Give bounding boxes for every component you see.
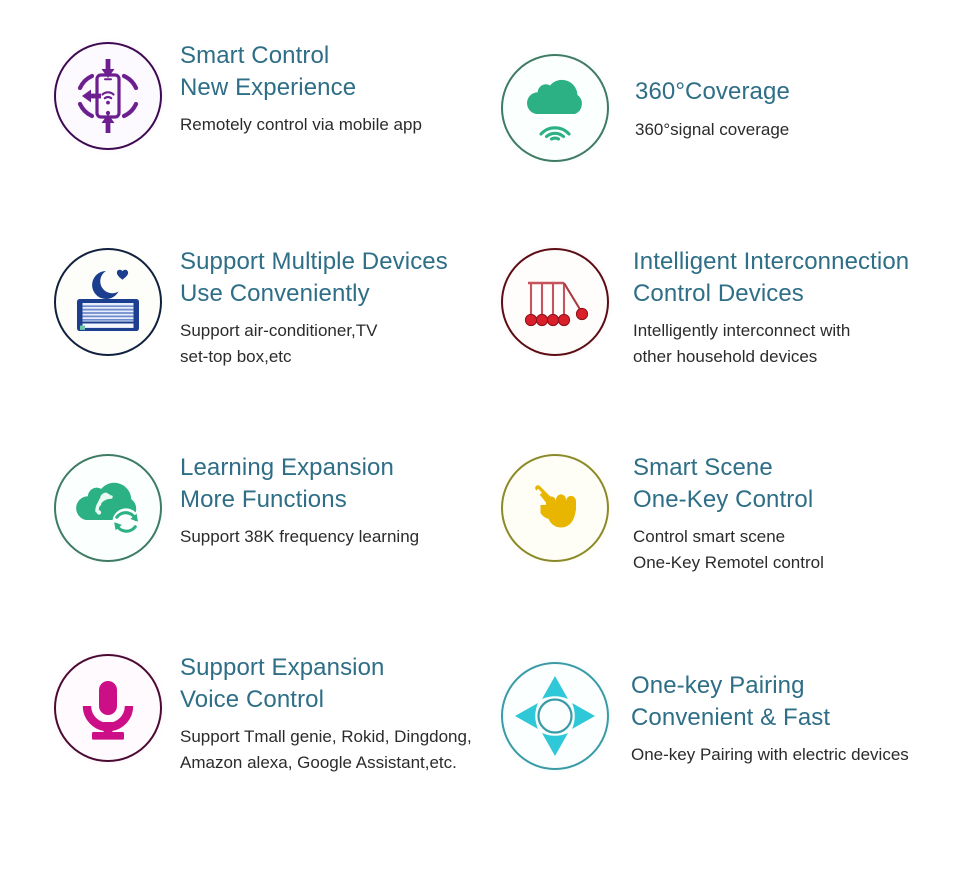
feature-description: Support air-conditioner,TV set-top box,e…	[180, 318, 448, 370]
feature-desc-line: Control smart scene	[633, 524, 824, 550]
feature-title: Learning Expansion More Functions	[180, 452, 419, 515]
feature-icon-wrap	[495, 656, 615, 776]
feature-title-line: 360°Coverage	[635, 76, 790, 108]
pointing-hand-icon	[501, 454, 609, 562]
feature-desc-line: One-key Pairing with electric devices	[631, 742, 909, 768]
feature-text: Support Expansion Voice Control Support …	[168, 648, 472, 776]
feature-title: Support Multiple Devices Use Convenientl…	[180, 246, 448, 309]
feature-description: One-key Pairing with electric devices	[631, 742, 909, 768]
feature-text: Support Multiple Devices Use Convenientl…	[168, 242, 448, 370]
feature-title-line: Control Devices	[633, 278, 909, 310]
feature-text: Smart Scene One-Key Control Control smar…	[615, 448, 824, 576]
feature-title-line: Support Multiple Devices	[180, 246, 448, 278]
feature-interconnection: Intelligent Interconnection Control Devi…	[495, 242, 909, 370]
feature-text: Intelligent Interconnection Control Devi…	[615, 242, 909, 370]
feature-icon-wrap	[48, 242, 168, 362]
feature-title-line: Voice Control	[180, 684, 472, 716]
feature-desc-line: Amazon alexa, Google Assistant,etc.	[180, 750, 472, 776]
cloud-signal-icon	[501, 54, 609, 162]
four-direction-arrows-icon	[501, 662, 609, 770]
feature-title-line: Convenient & Fast	[631, 702, 909, 734]
feature-title-line: More Functions	[180, 484, 419, 516]
feature-title: Smart Scene One-Key Control	[633, 452, 824, 515]
feature-icon-wrap	[495, 48, 615, 168]
feature-title: Intelligent Interconnection Control Devi…	[633, 246, 909, 309]
feature-description: 360°signal coverage	[635, 117, 790, 143]
feature-title-line: Intelligent Interconnection	[633, 246, 909, 278]
feature-title-line: Smart Scene	[633, 452, 824, 484]
feature-one-key-pairing: One-key Pairing Convenient & Fast One-ke…	[495, 656, 909, 776]
feature-desc-line: other household devices	[633, 344, 909, 370]
feature-text: 360°Coverage 360°signal coverage	[615, 48, 790, 143]
feature-desc-line: Support Tmall genie, Rokid, Dingdong,	[180, 724, 472, 750]
feature-title: Smart Control New Experience	[180, 40, 422, 103]
feature-icon-wrap	[48, 448, 168, 568]
feature-text: Smart Control New Experience Remotely co…	[168, 36, 422, 138]
feature-title-line: One-Key Control	[633, 484, 824, 516]
feature-text: Learning Expansion More Functions Suppor…	[168, 448, 419, 550]
feature-title-line: New Experience	[180, 72, 422, 104]
feature-title: One-key Pairing Convenient & Fast	[631, 670, 909, 733]
feature-grid: Smart Control New Experience Remotely co…	[0, 0, 958, 876]
feature-title: Support Expansion Voice Control	[180, 652, 472, 715]
feature-description: Support 38K frequency learning	[180, 524, 419, 550]
feature-smart-scene: Smart Scene One-Key Control Control smar…	[495, 448, 824, 576]
feature-icon-wrap	[48, 36, 168, 156]
feature-title-line: Support Expansion	[180, 652, 472, 684]
feature-desc-line: set-top box,etc	[180, 344, 448, 370]
feature-desc-line: One-Key Remotel control	[633, 550, 824, 576]
feature-text: One-key Pairing Convenient & Fast One-ke…	[615, 656, 909, 768]
feature-title-line: Learning Expansion	[180, 452, 419, 484]
smartphone-wifi-arrows-icon	[54, 42, 162, 150]
feature-learning: Learning Expansion More Functions Suppor…	[48, 448, 419, 568]
feature-smart-control: Smart Control New Experience Remotely co…	[48, 36, 422, 156]
feature-multiple-devices: Support Multiple Devices Use Convenientl…	[48, 242, 448, 370]
feature-title: 360°Coverage	[635, 76, 790, 108]
feature-icon-wrap	[48, 648, 168, 768]
feature-desc-line: 360°signal coverage	[635, 117, 790, 143]
feature-description: Support Tmall genie, Rokid, Dingdong, Am…	[180, 724, 472, 776]
newtons-cradle-icon	[501, 248, 609, 356]
feature-icon-wrap	[495, 448, 615, 568]
feature-desc-line: Intelligently interconnect with	[633, 318, 909, 344]
feature-desc-line: Remotely control via mobile app	[180, 112, 422, 138]
feature-description: Remotely control via mobile app	[180, 112, 422, 138]
feature-voice-control: Support Expansion Voice Control Support …	[48, 648, 472, 776]
microphone-icon	[54, 654, 162, 762]
feature-title-line: One-key Pairing	[631, 670, 909, 702]
feature-desc-line: Support 38K frequency learning	[180, 524, 419, 550]
feature-title-line: Use Conveniently	[180, 278, 448, 310]
feature-description: Control smart scene One-Key Remotel cont…	[633, 524, 824, 576]
feature-desc-line: Support air-conditioner,TV	[180, 318, 448, 344]
feature-title-line: Smart Control	[180, 40, 422, 72]
cloud-sync-learning-icon	[54, 454, 162, 562]
air-conditioner-moon-icon	[54, 248, 162, 356]
feature-coverage: 360°Coverage 360°signal coverage	[495, 48, 790, 168]
feature-icon-wrap	[495, 242, 615, 362]
feature-description: Intelligently interconnect with other ho…	[633, 318, 909, 370]
